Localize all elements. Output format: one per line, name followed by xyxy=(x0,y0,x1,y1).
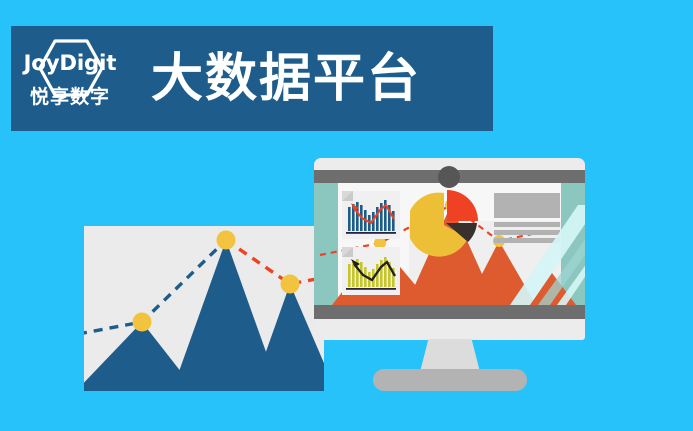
background-mountain-chart xyxy=(84,226,324,391)
power-indicator xyxy=(438,166,460,188)
mountain-chart-svg xyxy=(84,226,324,391)
text-line xyxy=(494,222,560,227)
logo-subtitle: 悦享数字 xyxy=(30,88,110,107)
data-marker xyxy=(281,275,300,294)
illustration-canvas: JoyDigit 悦享数字 大数据平台 xyxy=(0,0,693,431)
monitor-stand-base xyxy=(373,369,527,391)
trend-line-red xyxy=(226,240,324,284)
text-line xyxy=(494,230,560,235)
content-placeholder xyxy=(494,193,560,241)
monitor-bottom-bar xyxy=(314,305,585,319)
image-placeholder xyxy=(494,193,560,218)
monitor-stand-neck xyxy=(420,339,480,372)
logo-wordmark: JoyDigit xyxy=(24,53,117,74)
data-marker xyxy=(217,231,236,250)
bar-chart-card-blue-svg xyxy=(342,191,400,239)
bar-chart-card-blue xyxy=(342,191,400,239)
page-title: 大数据平台 xyxy=(151,53,421,105)
monitor-screen xyxy=(314,183,585,305)
pie-chart xyxy=(410,187,482,259)
text-line xyxy=(494,238,560,243)
header-banner: JoyDigit 悦享数字 大数据平台 xyxy=(11,26,493,131)
bar-chart-card-olive xyxy=(342,247,400,295)
brand-logo: JoyDigit 悦享数字 xyxy=(11,26,129,131)
data-marker xyxy=(133,313,152,332)
bar-chart-card-olive-svg xyxy=(342,247,400,295)
pie-slice-red xyxy=(447,190,478,221)
